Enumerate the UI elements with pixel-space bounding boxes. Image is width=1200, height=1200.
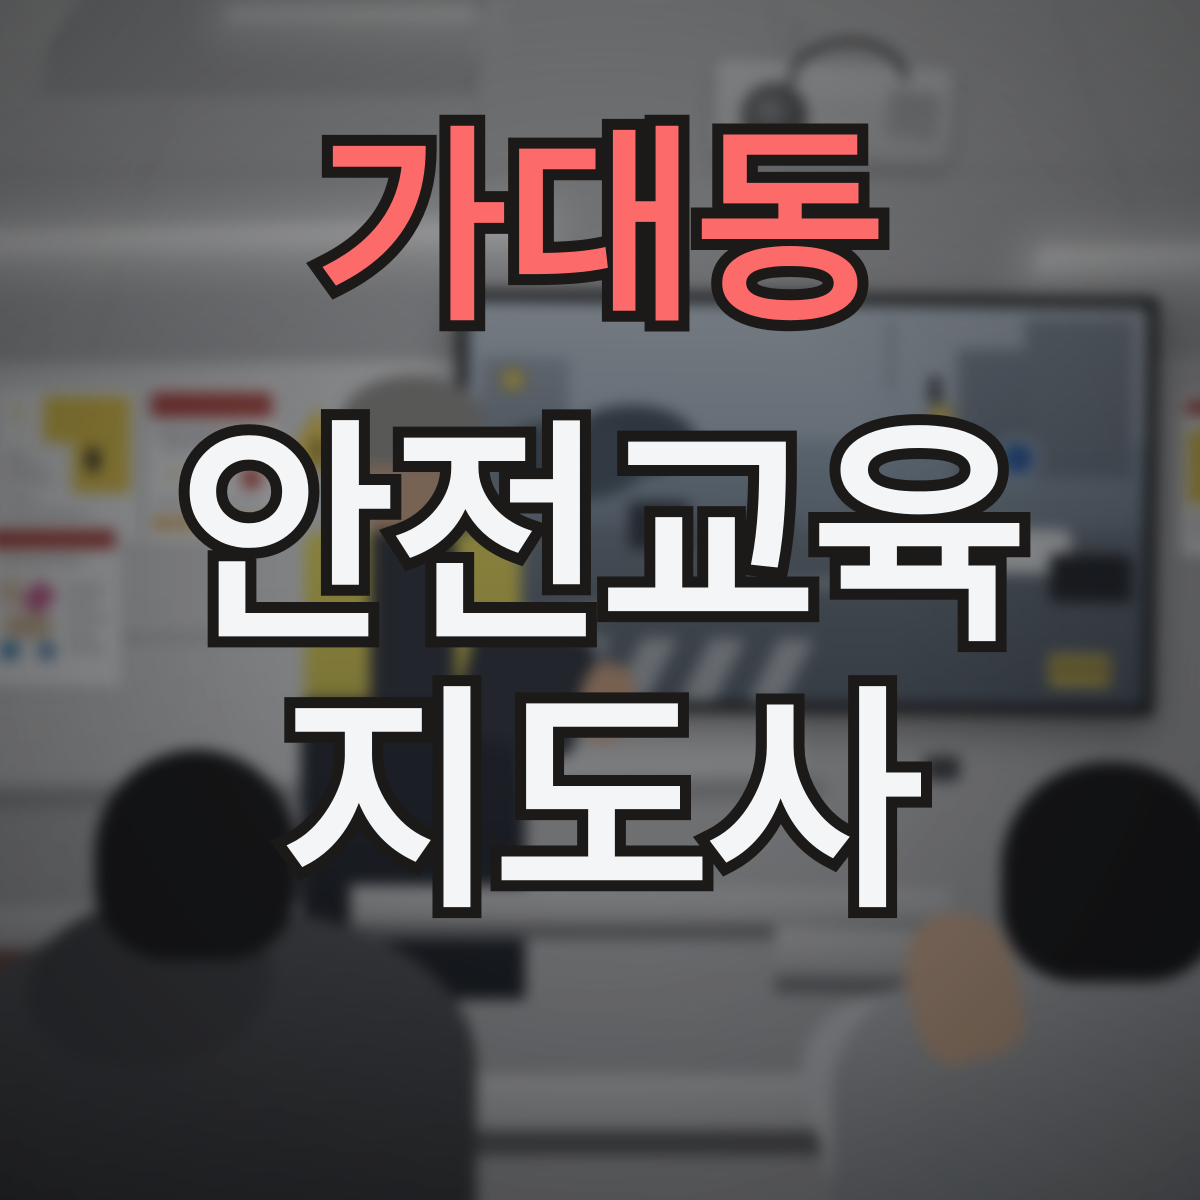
overlay-text-line-3: 지도사 (280, 692, 919, 916)
overlay-text-block: 가대동 안전교육 지도사 (0, 0, 1200, 1200)
poster-image: 가대동 안전교육 지도사 (0, 0, 1200, 1200)
overlay-text-line-1: 가대동 (316, 132, 884, 330)
overlay-text-line-2: 안전교육 (178, 426, 1022, 650)
